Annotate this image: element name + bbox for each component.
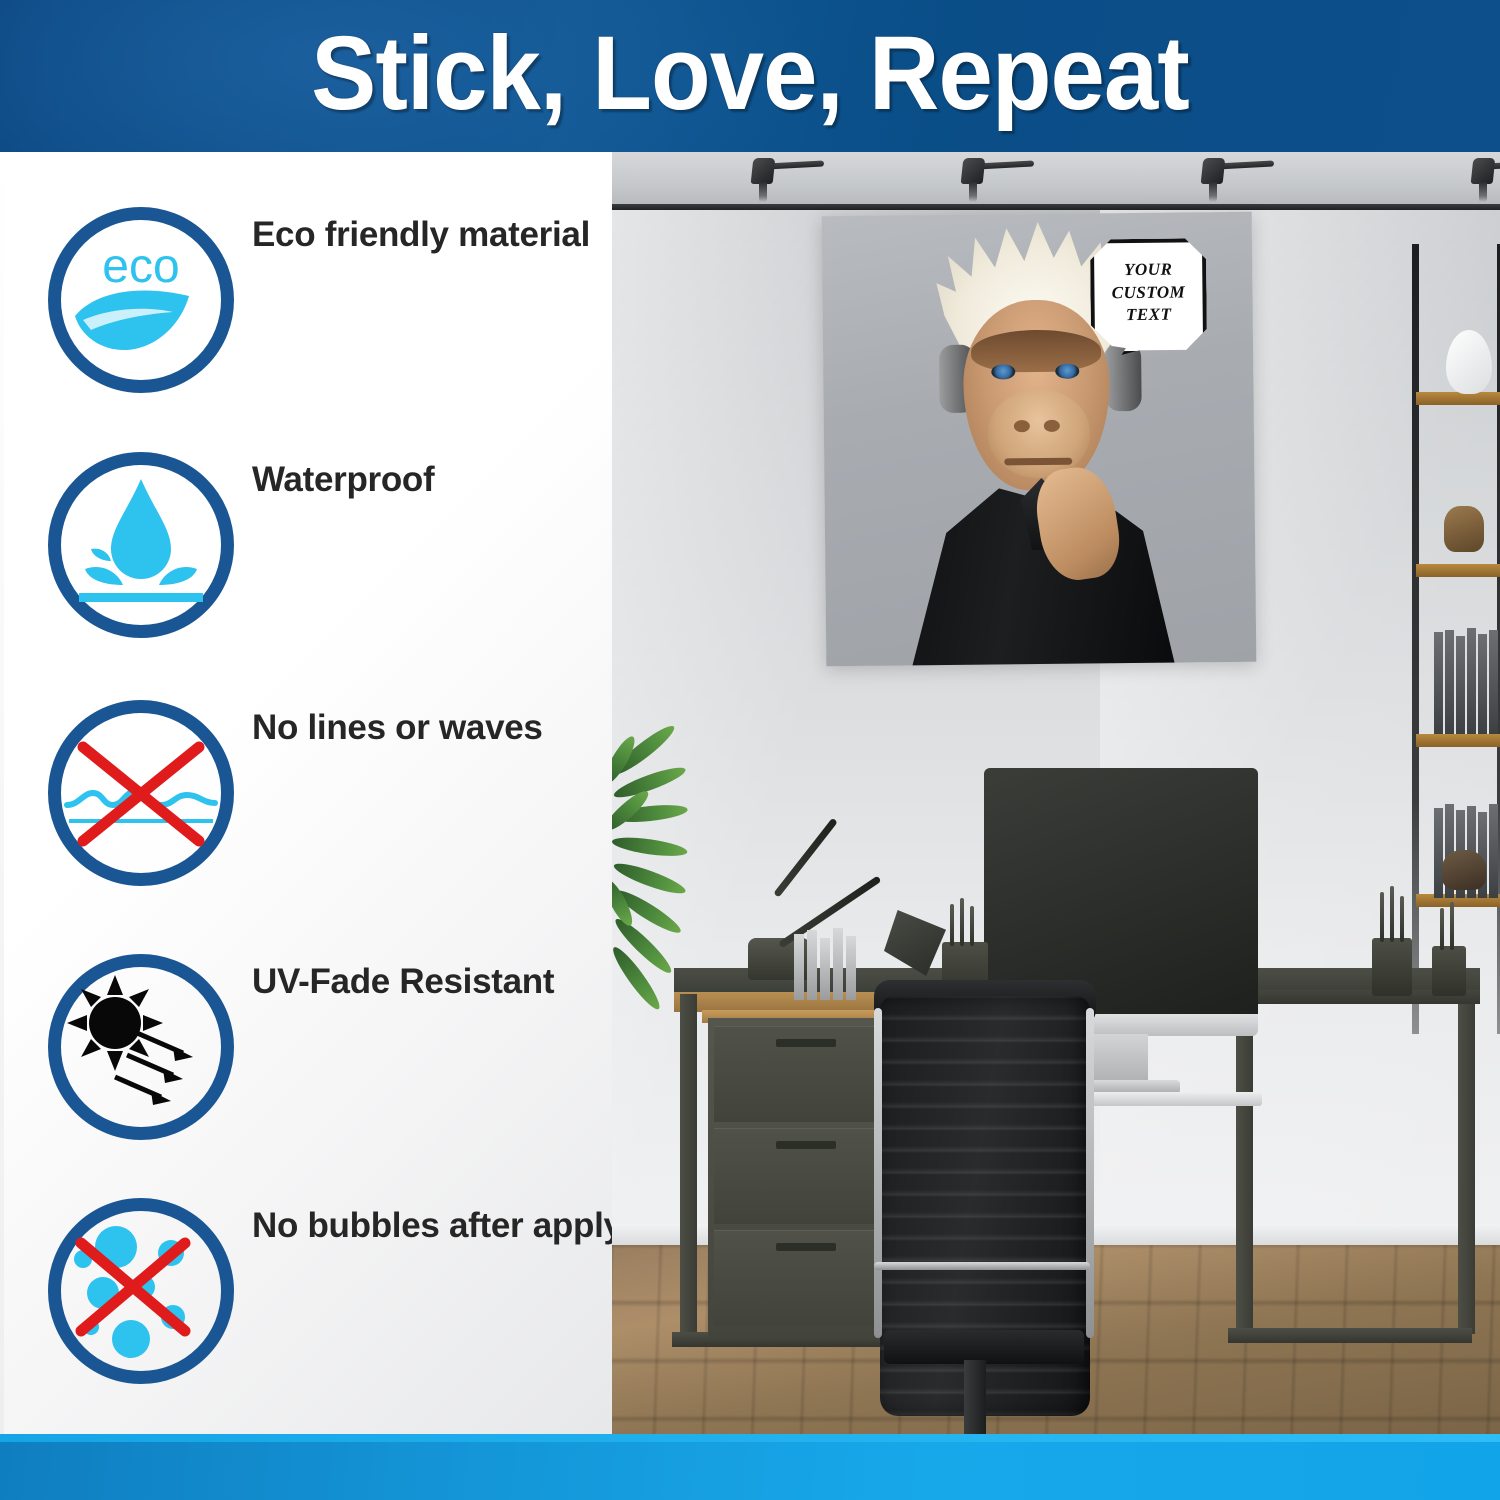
feature-list-panel: eco Eco friendly material — [0, 152, 612, 1434]
bubble-line-3: TEXT — [1112, 304, 1186, 328]
ape-mouth — [1004, 458, 1072, 466]
left-edge-divider — [0, 152, 4, 1434]
ape-brow — [971, 329, 1101, 372]
bubble-line-2: CUSTOM — [1112, 281, 1186, 305]
water-droplet-icon — [48, 452, 234, 638]
uv-sun-rays-icon — [48, 954, 234, 1140]
no-waves-icon — [48, 700, 234, 886]
feature-item-waterproof: Waterproof — [48, 452, 608, 662]
feature-item-no-lines: No lines or waves — [48, 700, 608, 910]
feature-label: Eco friendly material — [252, 215, 672, 255]
no-bubbles-icon — [48, 1198, 234, 1384]
header-banner: Stick, Love, Repeat — [0, 0, 1500, 152]
white-vase — [1446, 330, 1492, 394]
pen-cup — [1432, 946, 1466, 996]
ape-nostril — [1014, 420, 1030, 432]
ceiling — [612, 152, 1500, 210]
pen — [1380, 892, 1384, 942]
track-light-icon — [1470, 158, 1496, 204]
pen — [1400, 896, 1404, 942]
wooden-figurine — [1444, 506, 1484, 552]
track-light-icon — [1200, 158, 1226, 204]
speech-bubble-text: YOUR CUSTOM TEXT — [1111, 258, 1185, 336]
pen — [950, 904, 954, 946]
bottom-accent-bar — [0, 1434, 1500, 1500]
shelving-unit — [1412, 244, 1500, 1034]
track-light-icon — [960, 158, 986, 204]
pen — [1390, 886, 1394, 942]
books-on-desk — [794, 928, 856, 1000]
feature-label: Waterproof — [252, 460, 672, 500]
pen — [1440, 908, 1444, 950]
drawer[interactable] — [714, 1230, 898, 1326]
feature-label: No bubbles after apply — [252, 1206, 672, 1246]
ape-in-suit-wall-decal: YOUR CUSTOM TEXT — [822, 212, 1257, 666]
page-title: Stick, Love, Repeat — [53, 0, 1448, 152]
eco-leaf-icon: eco — [48, 207, 234, 393]
drawer[interactable] — [714, 1128, 898, 1224]
feature-item-eco: eco Eco friendly material — [48, 207, 608, 417]
pen — [1450, 902, 1454, 950]
pen — [960, 898, 964, 946]
speech-bubble: YOUR CUSTOM TEXT — [1090, 238, 1207, 355]
feature-item-no-bubbles: No bubbles after apply — [48, 1198, 608, 1408]
drawer[interactable] — [714, 1026, 898, 1122]
feature-label: No lines or waves — [252, 708, 672, 748]
ape-nostril — [1044, 420, 1060, 432]
pen-cup — [1372, 938, 1412, 996]
pen — [970, 906, 974, 946]
decorative-object — [1442, 850, 1486, 890]
home-office-scene-photo: YOUR CUSTOM TEXT — [612, 152, 1500, 1434]
track-light-icon — [750, 158, 776, 204]
product-infographic: Stick, Love, Repeat eco Eco friendly mat… — [0, 0, 1500, 1500]
svg-text:eco: eco — [102, 240, 179, 293]
feature-label: UV-Fade Resistant — [252, 962, 672, 1002]
bubble-line-1: YOUR — [1111, 258, 1185, 282]
books — [1434, 628, 1500, 734]
feature-item-uv-fade: UV-Fade Resistant — [48, 954, 608, 1164]
